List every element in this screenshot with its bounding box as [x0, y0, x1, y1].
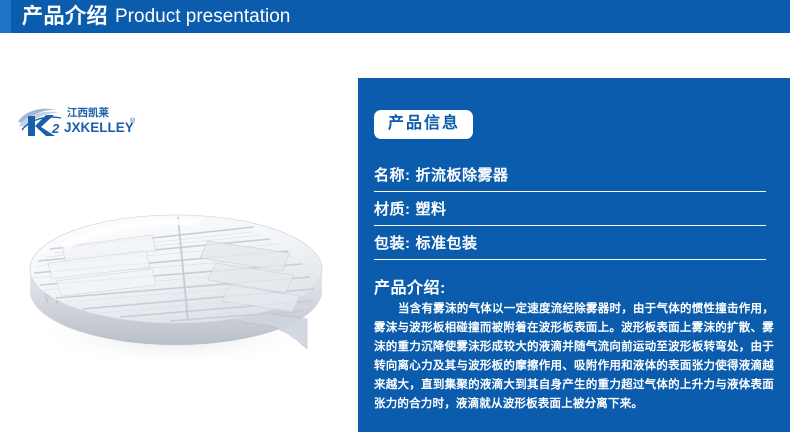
spec-label-name: 名称: [374, 164, 411, 185]
product-info-badge: 产品信息 [374, 110, 473, 139]
spec-value-name: 折流板除雾器 [416, 164, 509, 185]
page-title: 产品介绍 Product presentation [22, 0, 290, 33]
spec-value-packaging: 标准包装 [416, 232, 478, 253]
page-title-english: Product presentation [115, 7, 290, 26]
svg-text:®: ® [130, 117, 136, 125]
description-heading: 产品介绍: [374, 274, 446, 298]
page-title-chinese: 产品介绍 [22, 6, 108, 27]
spec-row-material: 材质: 塑料 [374, 192, 766, 226]
brand-name-chinese: 江西凯莱 [67, 106, 109, 119]
spec-row-packaging: 包装: 标准包装 [374, 226, 766, 260]
brand-name-english: JXKELLEY [64, 120, 134, 135]
jxkelley-logo-icon: 2 江西凯莱 JXKELLEY ® [16, 100, 138, 140]
product-photo [2, 165, 342, 375]
brand-logo: 2 江西凯莱 JXKELLEY ® [16, 100, 138, 140]
product-spec-list: 名称: 折流板除雾器 材质: 塑料 包装: 标准包装 [374, 158, 766, 260]
page-header-bar: 产品介绍 Product presentation [0, 0, 790, 33]
spec-label-packaging: 包装: [374, 232, 411, 253]
svg-text:2: 2 [51, 121, 60, 136]
baffle-plate-demister-icon [2, 165, 342, 375]
product-image-panel: 2 江西凯莱 JXKELLEY ® [0, 40, 350, 440]
description-body: 当含有雾沫的气体以一定速度流经除雾器时，由于气体的惯性撞击作用，雾沫与波形板相碰… [374, 300, 774, 414]
header-accent-strip [0, 0, 11, 33]
spec-value-material: 塑料 [416, 198, 447, 219]
product-info-panel: 产品信息 名称: 折流板除雾器 材质: 塑料 包装: 标准包装 产品介绍: 当含… [358, 78, 790, 432]
spec-row-name: 名称: 折流板除雾器 [374, 158, 766, 192]
spec-label-material: 材质: [374, 198, 411, 219]
